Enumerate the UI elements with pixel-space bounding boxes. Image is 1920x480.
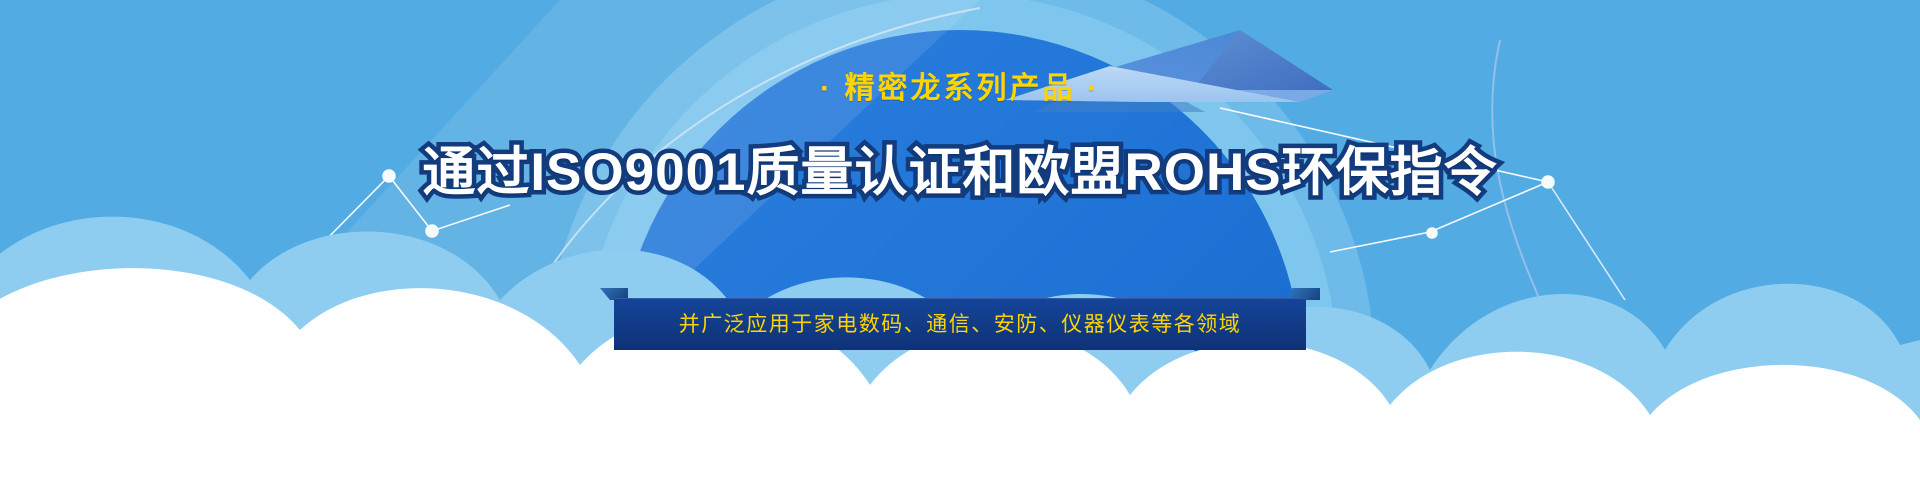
- ribbon-text: 并广泛应用于家电数码、通信、安防、仪器仪表等各领域: [679, 314, 1242, 335]
- banner-headline: 通过ISO9001质量认证和欧盟ROHS环保指令: [0, 142, 1920, 205]
- ribbon-body: 并广泛应用于家电数码、通信、安防、仪器仪表等各领域: [614, 298, 1306, 350]
- banner-ribbon: 并广泛应用于家电数码、通信、安防、仪器仪表等各领域: [600, 288, 1320, 350]
- banner-eyebrow: · 精密龙系列产品 ·: [0, 74, 1920, 104]
- promo-banner: · 精密龙系列产品 · 通过ISO9001质量认证和欧盟ROHS环保指令 并广泛…: [0, 0, 1920, 480]
